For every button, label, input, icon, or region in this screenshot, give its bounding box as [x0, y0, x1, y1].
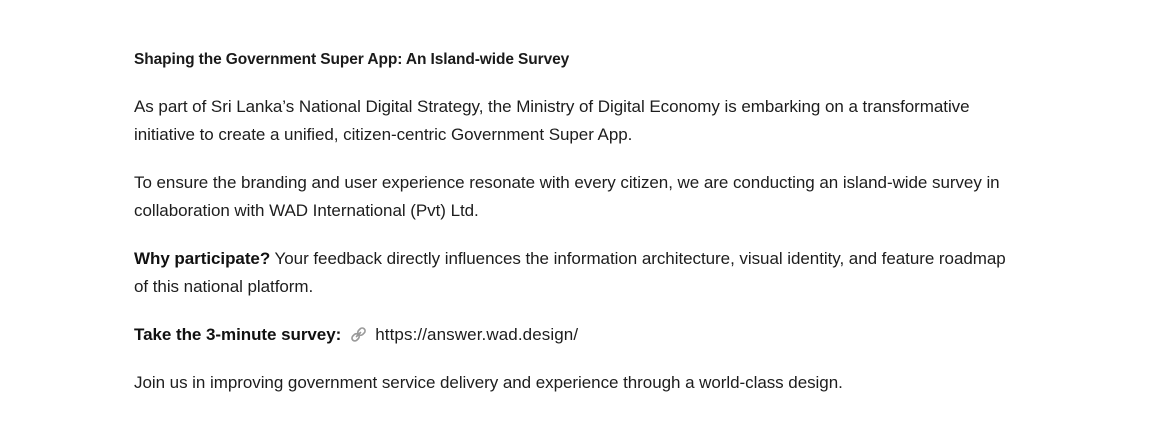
announcement-body: Shaping the Government Super App: An Isl…: [134, 48, 1006, 397]
paragraph-collaboration: To ensure the branding and user experien…: [134, 169, 1006, 225]
survey-url[interactable]: https://answer.wad.design/: [375, 325, 578, 344]
paragraph-intro: As part of Sri Lanka’s National Digital …: [134, 93, 1006, 149]
paragraph-closing: Join us in improving government service …: [134, 369, 1006, 397]
link-icon: [349, 325, 368, 344]
why-participate-lead-in: Why participate?: [134, 249, 270, 268]
paragraph-survey-link: Take the 3-minute survey: https://answer…: [134, 321, 1006, 349]
page-title: Shaping the Government Super App: An Isl…: [134, 48, 1006, 72]
paragraph-why-participate: Why participate? Your feedback directly …: [134, 245, 1006, 301]
survey-lead-in: Take the 3-minute survey:: [134, 325, 341, 344]
